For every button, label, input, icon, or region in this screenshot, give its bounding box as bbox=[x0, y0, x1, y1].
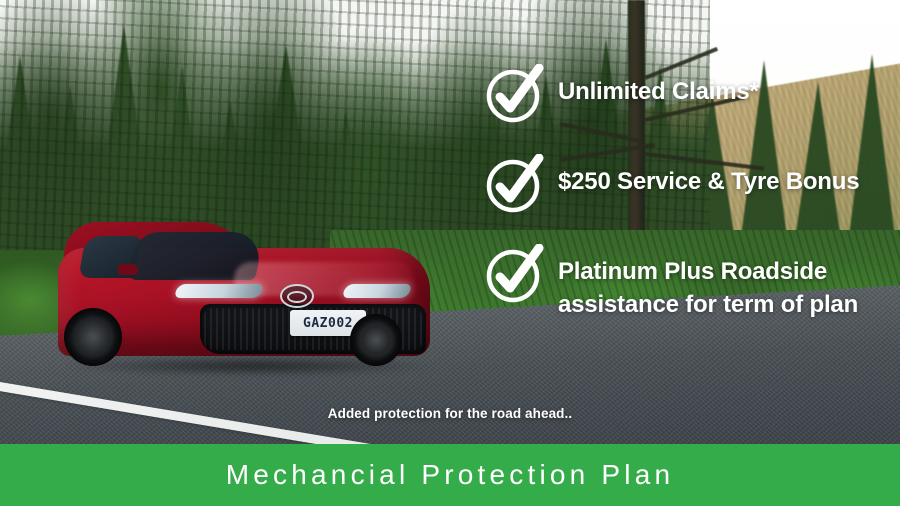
check-circle-icon bbox=[484, 64, 544, 124]
footer-title: Mechancial Protection Plan bbox=[226, 459, 675, 491]
license-plate-text: GAZ002 bbox=[303, 316, 353, 331]
headlight-right bbox=[341, 284, 413, 298]
check-circle-icon bbox=[484, 244, 544, 304]
mechanical-protection-plan-ad: GAZ002 Unlimited Claims* $2 bbox=[0, 0, 900, 506]
headlight-left bbox=[173, 284, 265, 298]
rear-wheel bbox=[350, 314, 402, 366]
feature-item: $250 Service & Tyre Bonus bbox=[484, 154, 892, 214]
feature-item: Platinum Plus Roadside assistance for te… bbox=[484, 244, 892, 321]
feature-label: Unlimited Claims* bbox=[558, 64, 759, 108]
feature-label: $250 Service & Tyre Bonus bbox=[558, 154, 859, 198]
feature-item: Unlimited Claims* bbox=[484, 64, 892, 124]
red-hatchback-car: GAZ002 bbox=[58, 222, 436, 372]
caption-text: Added protection for the road ahead.. bbox=[0, 406, 900, 421]
toyota-emblem-icon bbox=[280, 284, 314, 308]
feature-label: Platinum Plus Roadside assistance for te… bbox=[558, 244, 892, 321]
feature-list: Unlimited Claims* $250 Service & Tyre Bo… bbox=[484, 64, 892, 351]
footer-banner: Mechancial Protection Plan bbox=[0, 444, 900, 506]
front-wheel bbox=[64, 308, 122, 366]
side-mirror bbox=[118, 264, 138, 275]
front-rim bbox=[75, 319, 111, 355]
check-circle-icon bbox=[484, 154, 544, 214]
rear-rim bbox=[361, 325, 391, 355]
